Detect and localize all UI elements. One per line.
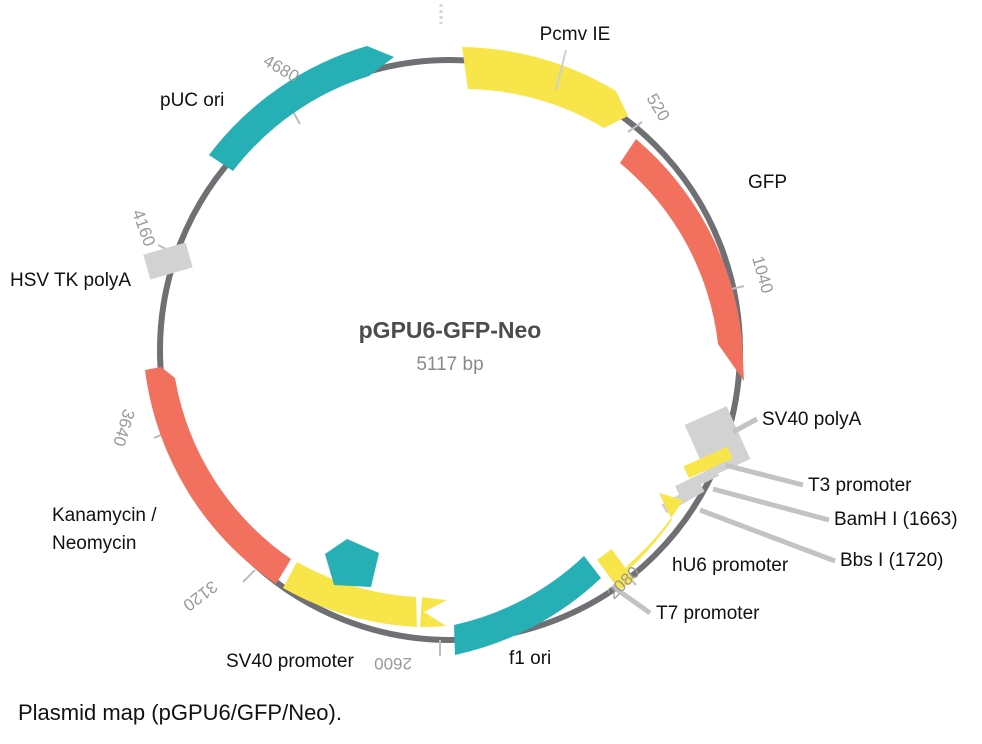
feature-hsv-tk-polya[interactable] (143, 242, 192, 279)
label-sv40-polya: SV40 polyA (762, 409, 862, 430)
label-sv40-promoter: SV40 promoter (226, 651, 354, 672)
figure-caption: Plasmid map (pGPU6/GFP/Neo). (18, 700, 342, 726)
label-bamh-i: BamH I (1663) (834, 509, 958, 530)
plasmid-map-canvas: pGPU6-GFP-Neo 5117 bp Pcmv IE GFP SV40 p… (0, 0, 982, 744)
center-title-group: pGPU6-GFP-Neo 5117 bp (359, 317, 542, 375)
feature-labels-group: Pcmv IE GFP SV40 polyA T3 promoter BamH … (10, 24, 958, 672)
plasmid-length: 5117 bp (416, 354, 483, 375)
label-hsv-tk-polya: HSV TK polyA (10, 270, 131, 291)
leader-t3-promoter (725, 465, 803, 485)
feature-f1-ori[interactable] (454, 556, 601, 655)
tick-label-520: 520 (643, 90, 674, 124)
feature-inner-pentagon[interactable] (325, 539, 379, 587)
label-t7-promoter: T7 promoter (656, 603, 760, 624)
tick-label-3120: 3120 (179, 577, 221, 615)
tick-label-2600: 2600 (374, 654, 412, 673)
label-hu6-promoter: hU6 promoter (672, 555, 789, 576)
tick-mark-3120 (243, 570, 255, 582)
feature-unlabeled-arrow[interactable] (420, 597, 447, 627)
tick-label-4160: 4160 (128, 207, 159, 249)
tick-label-1040: 1040 (748, 254, 777, 296)
leader-sv40-polya (733, 419, 757, 432)
label-gfp: GFP (748, 172, 787, 193)
feature-puc-ori[interactable] (209, 46, 394, 171)
label-t3-promoter: T3 promoter (808, 475, 912, 496)
plasmid-map-figure: pGPU6-GFP-Neo 5117 bp Pcmv IE GFP SV40 p… (0, 0, 982, 744)
label-puc-ori: pUC ori (160, 90, 224, 111)
label-kanamycin-line1: Kanamycin / (52, 505, 157, 526)
label-f1-ori: f1 ori (509, 648, 551, 669)
tick-label-3640: 3640 (109, 407, 138, 449)
label-bbs-i: Bbs I (1720) (840, 550, 944, 571)
feature-kanamycin-neomycin[interactable] (145, 367, 291, 584)
label-pcmv-ie: Pcmv IE (540, 24, 611, 45)
features-group (143, 46, 750, 655)
label-kanamycin-line2: Neomycin (52, 533, 136, 554)
plasmid-name: pGPU6-GFP-Neo (359, 317, 542, 343)
feature-pcmv-ie[interactable] (462, 47, 628, 128)
